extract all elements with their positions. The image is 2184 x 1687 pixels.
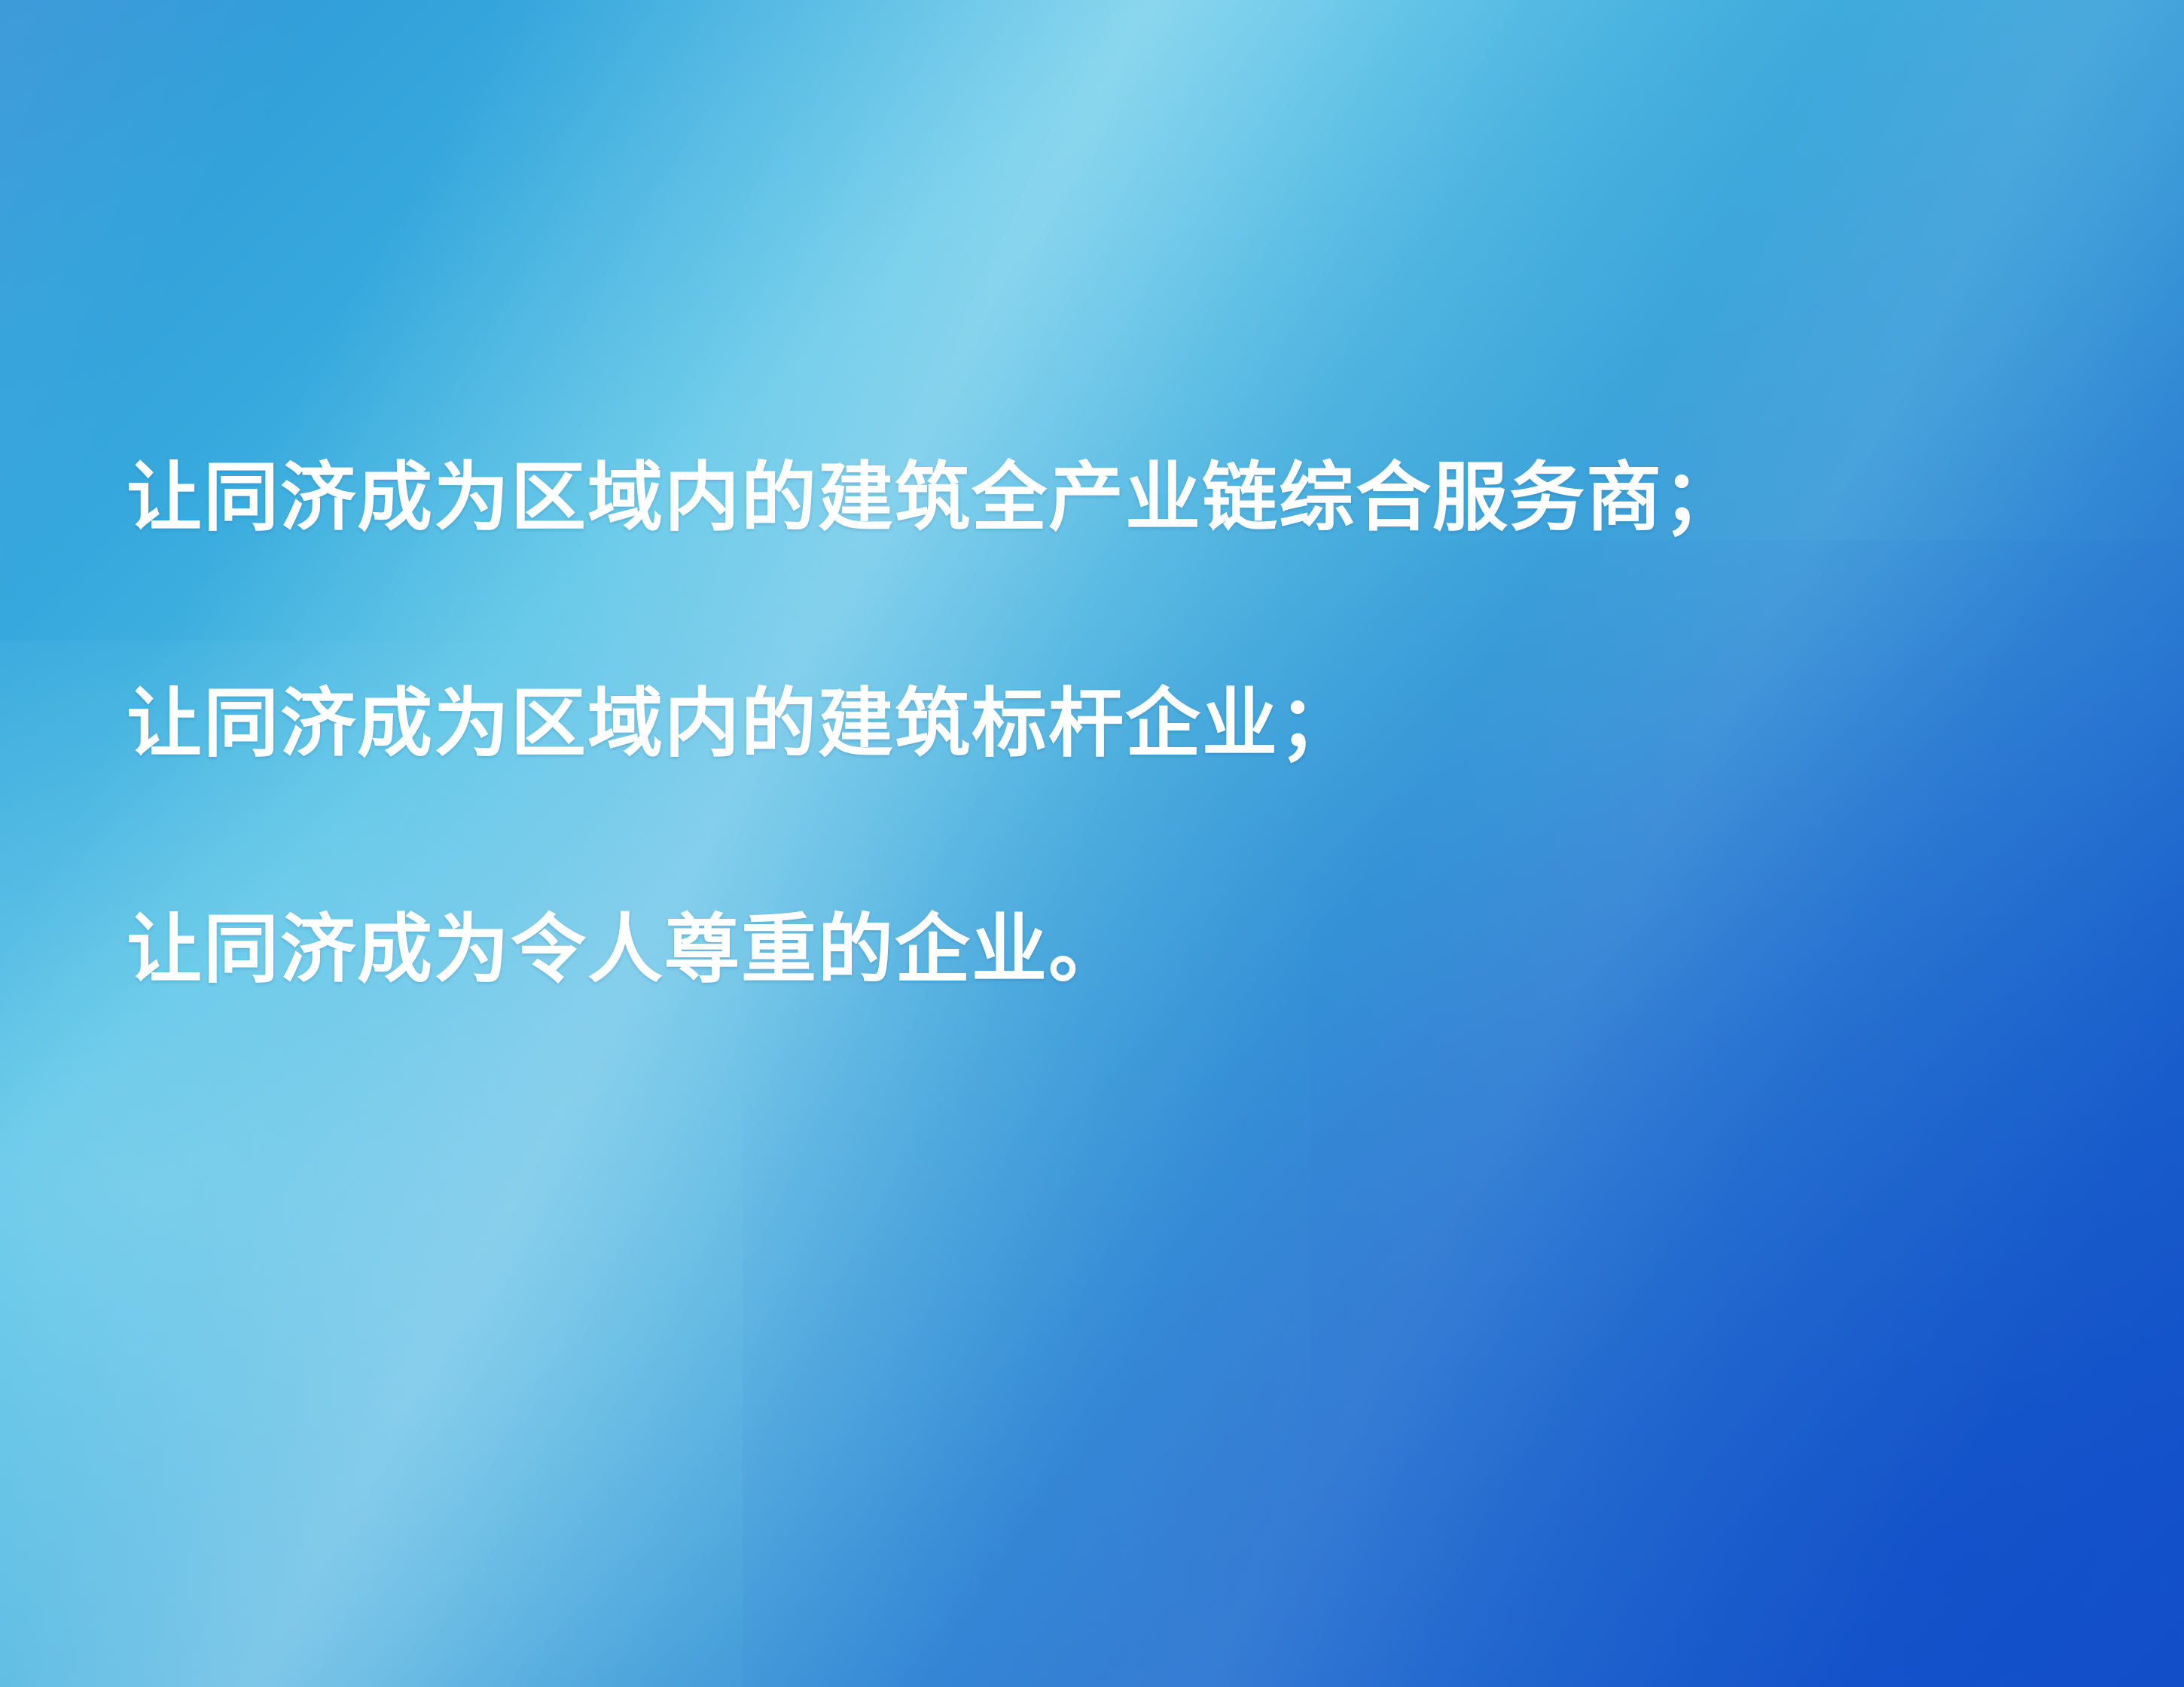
- slogan-line-2: 让同济成为区域内的建筑标杆企业；: [127, 685, 2085, 761]
- slide-canvas: 让同济成为区域内的建筑全产业链综合服务商； 让同济成为区域内的建筑标杆企业； 让…: [0, 0, 2184, 1687]
- slogan-line-1: 让同济成为区域内的建筑全产业链综合服务商；: [127, 459, 2085, 535]
- slogan-line-3: 让同济成为令人尊重的企业。: [127, 911, 2085, 987]
- slogan-text-block: 让同济成为区域内的建筑全产业链综合服务商； 让同济成为区域内的建筑标杆企业； 让…: [127, 459, 2085, 987]
